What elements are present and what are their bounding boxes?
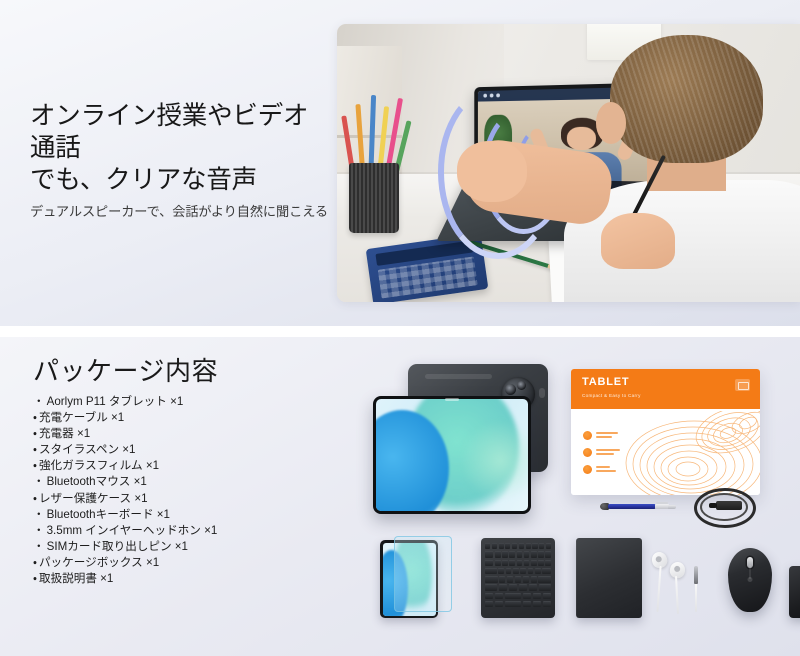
list-item: ・取扱説明書 ×1: [33, 571, 217, 587]
package-title: パッケージ内容: [33, 351, 218, 388]
camera-lens-2: [517, 381, 526, 390]
box-feature-list: [583, 431, 620, 482]
keyboard-row: [485, 593, 551, 599]
bullet-icon: ・: [33, 540, 45, 553]
product-detail-page: オンライン授業やビデオ通話 でも、クリアな音声 デュアルスピーカーで、会話がより…: [0, 0, 800, 656]
hero-copy-block: オンライン授業やビデオ通話 でも、クリアな音声 デュアルスピーカーで、会話がより…: [30, 100, 330, 221]
bullet-icon: ・: [33, 508, 45, 521]
hero-section: オンライン授業やビデオ通話 でも、クリアな音声 デュアルスピーカーで、会話がより…: [0, 0, 800, 326]
box-feature-item: [583, 465, 620, 474]
stylus-clip: [656, 502, 668, 504]
bullet-icon: ・: [33, 411, 37, 424]
feature-bullet-icon: [583, 465, 592, 474]
bullet-icon: ・: [33, 459, 37, 472]
box-body: [571, 409, 760, 495]
keyboard-row: [485, 568, 551, 574]
list-item: ・充電ケーブル ×1: [33, 410, 217, 426]
feature-label: [596, 466, 616, 473]
earphone-wire-jack: [695, 582, 697, 612]
mouse-logo-icon: [748, 577, 753, 582]
hero-title: オンライン授業やビデオ通話 でも、クリアな音声: [30, 100, 330, 196]
list-item-label: 充電器 ×1: [39, 427, 90, 440]
list-item: ・パッケージボックス ×1: [33, 555, 217, 571]
3-5mm-in-ear-headphones: [650, 548, 712, 616]
list-item: ・Bluetoothキーボード ×1: [33, 507, 217, 523]
child-hair: [610, 35, 763, 163]
keyboard-row: [485, 551, 551, 557]
charger-body: [789, 566, 800, 618]
hero-title-line-2: でも、クリアな音声: [30, 166, 257, 194]
tempered-glass-film: [394, 536, 452, 612]
tablet-speaker-grille: [425, 374, 492, 379]
cable-connector: [716, 501, 742, 510]
camera-flash: [539, 388, 545, 398]
topographic-pattern-icon: [624, 411, 760, 495]
retail-package-box: TABLET Compact & Easy to Carry: [571, 369, 760, 495]
list-item: ・Aorlym P11 タブレット ×1: [33, 394, 217, 410]
list-item-label: 3.5mm インイヤーヘッドホン ×1: [47, 524, 218, 537]
list-item: ・SIMカード取り出しピン ×1: [33, 539, 217, 555]
bluetooth-mouse: [728, 548, 772, 612]
case-fold-lines: [576, 538, 642, 618]
list-item-label: パッケージボックス ×1: [39, 556, 159, 569]
box-logo-icon: [735, 379, 750, 391]
list-item-label: 強化ガラスフィルム ×1: [39, 459, 159, 472]
earphone-wire-right: [675, 576, 679, 614]
keyboard-row: [485, 560, 551, 566]
bluetooth-keyboard: [481, 538, 555, 618]
list-item-label: スタイラスペン ×1: [39, 443, 136, 456]
box-subtitle: Compact & Easy to Carry: [582, 393, 641, 398]
bullet-icon: ・: [33, 572, 37, 585]
feature-bullet-icon: [583, 448, 592, 457]
list-item: ・3.5mm インイヤーヘッドホン ×1: [33, 523, 217, 539]
tablet-display: [376, 399, 528, 511]
package-item-list: ・Aorlym P11 タブレット ×1 ・充電ケーブル ×1 ・充電器 ×1 …: [33, 394, 217, 587]
camera-lens-1: [505, 384, 516, 395]
list-item: ・スタイラスペン ×1: [33, 442, 217, 458]
hero-title-line-1: オンライン授業やビデオ通話: [30, 102, 308, 162]
earbud-right: [669, 561, 687, 579]
list-item-label: 充電ケーブル ×1: [39, 411, 124, 424]
pencil-holder: [349, 163, 400, 233]
list-item-label: 取扱説明書 ×1: [39, 572, 113, 585]
box-feature-item: [583, 448, 620, 457]
tablet-front-view: [373, 396, 531, 514]
box-header: TABLET Compact & Easy to Carry: [571, 369, 760, 409]
keyboard-row: [485, 584, 551, 590]
child-resting-hand: [601, 213, 675, 269]
feature-bullet-icon: [583, 431, 592, 440]
stylus-grip: [655, 504, 669, 509]
list-item: ・Bluetoothマウス ×1: [33, 474, 217, 490]
bullet-icon: ・: [33, 524, 45, 537]
keyboard-row: [485, 601, 551, 607]
child-ear: [596, 102, 626, 144]
front-camera-icon: [445, 398, 459, 401]
keyboard-row: [485, 543, 551, 549]
3-5mm-jack: [694, 566, 698, 584]
stylus-end-cap: [668, 505, 676, 509]
bullet-icon: ・: [33, 556, 37, 569]
bullet-icon: ・: [33, 492, 37, 505]
box-title: TABLET: [582, 376, 629, 388]
stylus-pen: [600, 503, 676, 510]
wall-charger: [789, 556, 800, 618]
list-item-label: SIMカード取り出しピン ×1: [47, 540, 188, 553]
usb-c-charging-cable: [694, 488, 750, 526]
list-item: ・充電器 ×1: [33, 426, 217, 442]
tempered-glass-film-group: [372, 536, 450, 618]
bullet-icon: ・: [33, 395, 45, 408]
keyboard-row: [485, 576, 551, 582]
list-item: ・強化ガラスフィルム ×1: [33, 458, 217, 474]
hero-subtitle: デュアルスピーカーで、会話がより自然に聞こえる: [30, 203, 330, 221]
list-item-label: Bluetoothマウス ×1: [47, 475, 147, 488]
feature-label: [596, 449, 620, 456]
list-item-label: Bluetoothキーボード ×1: [47, 508, 170, 521]
bullet-icon: ・: [33, 475, 45, 488]
list-item: ・レザー保護ケース ×1: [33, 491, 217, 507]
child-hand-holding-stylus: [457, 141, 526, 202]
box-feature-item: [583, 431, 620, 440]
earphone-wire-left: [656, 566, 661, 612]
hero-photo: [337, 24, 800, 302]
child-head: [610, 35, 763, 163]
bullet-icon: ・: [33, 427, 37, 440]
feature-label: [596, 432, 618, 439]
stylus-barrel: [608, 504, 656, 508]
bullet-icon: ・: [33, 443, 37, 456]
list-item-label: レザー保護ケース ×1: [39, 492, 148, 505]
list-item-label: Aorlym P11 タブレット ×1: [47, 395, 184, 408]
leather-protective-case: [576, 538, 642, 618]
